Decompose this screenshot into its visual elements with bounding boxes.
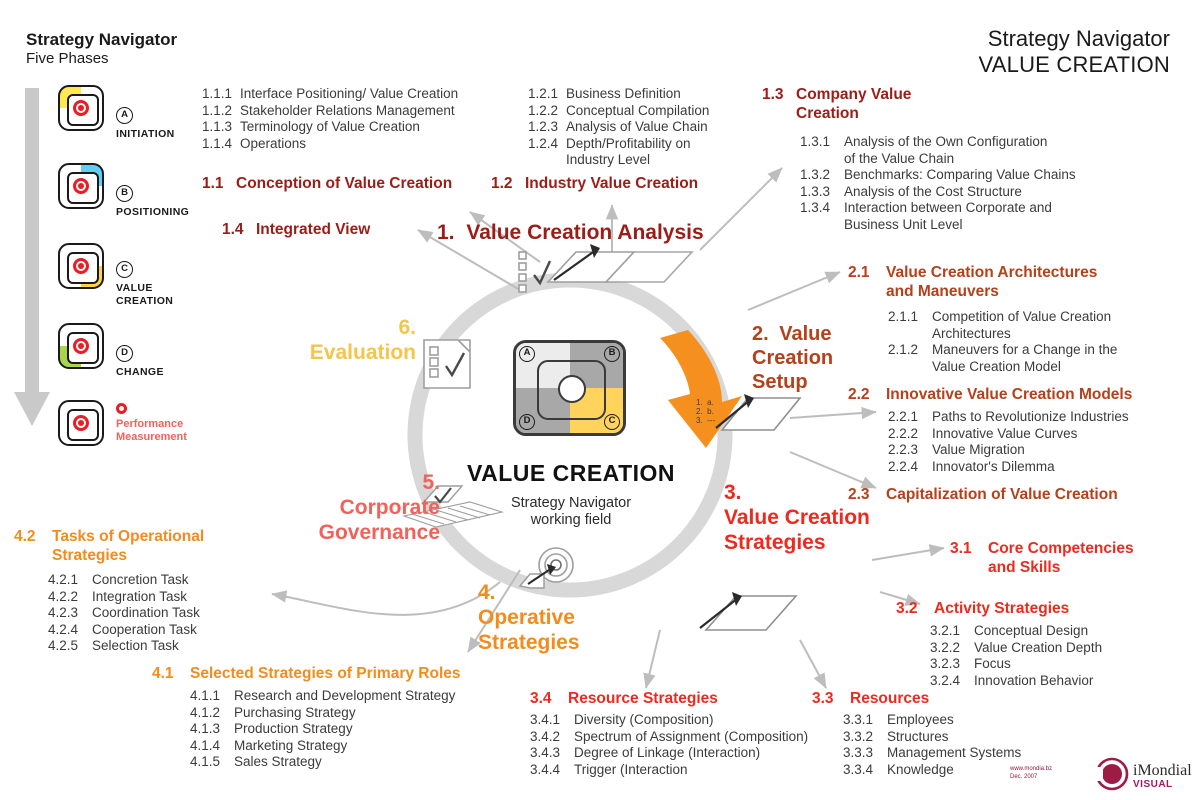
phase-icon-d <box>58 323 104 369</box>
item-number: 4.1.2 <box>190 705 234 722</box>
center-subtitle-line1: Strategy Navigator <box>440 495 702 512</box>
working-field-graphic[interactable]: A B C D <box>513 340 626 436</box>
phase-letter-a: A <box>116 107 133 124</box>
working-field-center-dot <box>558 375 586 403</box>
item-text: Value Creation Depth <box>974 640 1102 657</box>
phase-letter-d: D <box>116 345 133 362</box>
item-number: 1.3.4 <box>800 200 844 217</box>
list-item: 1.2.3Analysis of Value Chain <box>528 119 709 136</box>
item-number: 4.1.1 <box>190 688 234 705</box>
list-item: 3.3.4Knowledge <box>843 762 1021 779</box>
list-item: 4.1.4Marketing Strategy <box>190 738 455 755</box>
cycle-step-4[interactable]: 4. Operative Strategies <box>478 580 580 655</box>
left-header-title: Strategy Navigator <box>26 30 177 50</box>
item-text: Selection Task <box>92 638 179 655</box>
list-item: 4.1.3Production Strategy <box>190 721 455 738</box>
heading-title: Integrated View <box>256 221 370 238</box>
heading-title-line1: Tasks of Operational <box>52 528 204 547</box>
imondial-logo-mark <box>1095 759 1127 789</box>
item-text: Stakeholder Relations Management <box>240 103 455 120</box>
phase-item-performance-measurement[interactable]: Performance Measurement <box>58 400 104 446</box>
item-number: 4.2.3 <box>48 605 92 622</box>
sheet-icon-strategies <box>700 592 796 630</box>
list-item: 3.4.3Degree of Linkage (Interaction) <box>530 745 808 762</box>
item-text: Competition of Value Creation <box>932 309 1111 326</box>
block-heading-2-3[interactable]: 2.3Capitalization of Value Creation <box>848 486 1118 505</box>
phase-name-b: POSITIONING <box>116 206 189 219</box>
item-number: 3.3.1 <box>843 712 887 729</box>
item-text: Diversity (Composition) <box>574 712 714 729</box>
item-text: Cooperation Task <box>92 622 197 639</box>
block-heading-4-2[interactable]: 4.2 Tasks of Operational Strategies <box>14 528 204 565</box>
list-item: 1.2.2Conceptual Compilation <box>528 103 709 120</box>
heading-title: Conception of Value Creation <box>236 175 452 192</box>
phase-letter-b: B <box>116 185 133 202</box>
heading-number: 3.3 <box>812 690 850 709</box>
item-text-cont: Business Unit Level <box>844 217 963 234</box>
heading-title-line2: and Maneuvers <box>886 283 1097 302</box>
checklist-icon-evaluation <box>424 340 470 388</box>
list-item: 2.2.3Value Migration <box>888 442 1129 459</box>
heading-number: 2.1 <box>848 264 886 283</box>
item-number: 4.2.5 <box>48 638 92 655</box>
step-number: 6. <box>300 315 416 340</box>
item-text: Operations <box>240 136 306 153</box>
list-item: 4.2.2Integration Task <box>48 589 200 606</box>
quadrant-letter-b: B <box>604 346 620 362</box>
item-text: Depth/Profitability on <box>566 136 691 153</box>
item-number: 3.2.1 <box>930 623 974 640</box>
item-number: 2.2.1 <box>888 409 932 426</box>
phase-item-value-creation[interactable]: C VALUE CREATION <box>58 243 104 289</box>
item-text: Paths to Revolutionize Industries <box>932 409 1129 426</box>
quadrant-letter-c: C <box>604 414 620 430</box>
diagram-canvas: Strategy Navigator Five Phases Strategy … <box>0 0 1200 800</box>
phase-item-change[interactable]: D CHANGE <box>58 323 104 369</box>
heading-title-line1: Value Creation Architectures <box>886 264 1097 283</box>
phase-name-d: CHANGE <box>116 366 164 379</box>
heading-title-line2: Strategies <box>52 547 204 566</box>
item-number: 1.3.3 <box>800 184 844 201</box>
item-text: Research and Development Strategy <box>234 688 455 705</box>
heading-title: Selected Strategies of Primary Roles <box>190 665 461 682</box>
step-label-line2: Strategies <box>724 530 870 555</box>
item-number: 4.2.1 <box>48 572 92 589</box>
list-item: 1.1.1Interface Positioning/ Value Creati… <box>202 86 458 103</box>
item-text: Focus <box>974 656 1011 673</box>
item-text: Innovator's Dilemma <box>932 459 1055 476</box>
item-number: 1.2.3 <box>528 119 566 136</box>
item-number: 2.1.1 <box>888 309 932 326</box>
heading-title-line2: and Skills <box>988 559 1134 578</box>
list-item: 1.3.3Analysis of the Cost Structure <box>800 184 1076 201</box>
list-item: 1.1.3Terminology of Value Creation <box>202 119 458 136</box>
item-number: 3.4.2 <box>530 729 574 746</box>
step-label-line1: Value Creation <box>724 505 870 530</box>
brand-subtitle: VISUAL <box>1133 779 1192 790</box>
block-4-1-items: 4.1.1Research and Development Strategy 4… <box>190 688 455 771</box>
list-item-cont: Business Unit Level <box>800 217 1076 234</box>
item-text: Analysis of the Cost Structure <box>844 184 1022 201</box>
item-number: 1.1.4 <box>202 136 240 153</box>
item-text: Integration Task <box>92 589 187 606</box>
item-text: Interaction between Corporate and <box>844 200 1052 217</box>
block-2-2-items: 2.2.1Paths to Revolutionize Industries 2… <box>888 409 1129 475</box>
block-1-3-items: 1.3.1Analysis of the Own Configuration o… <box>800 134 1076 233</box>
block-3-4-items: 3.4.1Diversity (Composition) 3.4.2Spectr… <box>530 712 808 778</box>
center-subtitle-line2: working field <box>440 512 702 529</box>
right-header-title-line1: Strategy Navigator <box>979 26 1170 52</box>
list-item: 1.3.2Benchmarks: Comparing Value Chains <box>800 167 1076 184</box>
block-2-1-items: 2.1.1Competition of Value Creation Archi… <box>888 309 1117 375</box>
cycle-step-2[interactable]: 2. Value Creation Setup <box>752 322 833 394</box>
list-item-cont: Industry Level <box>528 152 709 169</box>
phase-badge-performance: Performance Measurement <box>116 403 187 443</box>
step-number: 5. <box>292 470 440 495</box>
right-header-title-line2: VALUE CREATION <box>979 52 1170 78</box>
phase-name-c: VALUE CREATION <box>116 282 173 307</box>
block-3-3-items: 3.3.1Employees 3.3.2Structures 3.3.3Mana… <box>843 712 1021 778</box>
item-text: Conceptual Design <box>974 623 1088 640</box>
item-number: 3.4.1 <box>530 712 574 729</box>
list-item-cont: Value Creation Model <box>888 359 1117 376</box>
list-item: 2.1.2Maneuvers for a Change in the <box>888 342 1117 359</box>
item-text-cont: of the Value Chain <box>844 151 954 168</box>
step-label-line1: Corporate <box>292 495 440 520</box>
list-item: 4.2.4Cooperation Task <box>48 622 200 639</box>
block-heading-4-1[interactable]: 4.1Selected Strategies of Primary Roles <box>152 665 461 684</box>
item-text: Structures <box>887 729 949 746</box>
list-item: 4.1.2Purchasing Strategy <box>190 705 455 722</box>
item-text: Trigger (Interaction <box>574 762 688 779</box>
item-number: 1.1.3 <box>202 119 240 136</box>
heading-title: Resources <box>850 690 929 707</box>
item-text: Conceptual Compilation <box>566 103 709 120</box>
phase-icon-performance <box>58 400 104 446</box>
footer-brand[interactable]: iMondial VISUAL <box>1133 762 1192 790</box>
list-item: 3.3.3Management Systems <box>843 745 1021 762</box>
heading-number: 4.1 <box>152 665 190 684</box>
heading-title: Industry Value Creation <box>525 175 698 192</box>
heading-number: 3.2 <box>896 600 934 619</box>
cycle-step-6[interactable]: 6. Evaluation <box>300 315 416 365</box>
phase-flow-arrow <box>14 88 50 426</box>
quadrant-letter-a: A <box>519 346 535 362</box>
heading-number: 1.1 <box>202 175 236 194</box>
item-text: Value Migration <box>932 442 1025 459</box>
list-item: 3.3.1Employees <box>843 712 1021 729</box>
list-item: 3.2.2Value Creation Depth <box>930 640 1102 657</box>
left-header: Strategy Navigator Five Phases <box>26 30 177 68</box>
item-text: Analysis of Value Chain <box>566 119 708 136</box>
heading-number: 1.4 <box>222 221 256 240</box>
phase-letter-c: C <box>116 261 133 278</box>
phase-badge-d: D CHANGE <box>116 345 164 379</box>
block-heading-3-1[interactable]: 3.1 Core Competencies and Skills <box>950 540 1134 577</box>
list-item: 2.2.1Paths to Revolutionize Industries <box>888 409 1129 426</box>
list-item: 3.4.4Trigger (Interaction <box>530 762 808 779</box>
step-label-line1: Operative <box>478 605 580 630</box>
footer-credits: www.mondia.bz Dec. 2007 <box>1010 766 1052 781</box>
cycle-step-5[interactable]: 5. Corporate Governance <box>292 470 440 545</box>
item-text: Spectrum of Assignment (Composition) <box>574 729 808 746</box>
brand-name: iMondial <box>1133 762 1192 779</box>
heading-title: Activity Strategies <box>934 600 1069 617</box>
item-text: Concretion Task <box>92 572 189 589</box>
block-4-2-items: 4.2.1Concretion Task 4.2.2Integration Ta… <box>48 572 200 655</box>
heading-title-line2: Creation <box>796 105 911 124</box>
block-heading-2-1[interactable]: 2.1 Value Creation Architectures and Man… <box>848 264 1097 301</box>
item-text-cont: Value Creation Model <box>932 359 1061 376</box>
heading-title: Innovative Value Creation Models <box>886 386 1132 403</box>
list-item: 2.2.4Innovator's Dilemma <box>888 459 1129 476</box>
list-item: 4.1.5Sales Strategy <box>190 754 455 771</box>
step-number: 4. <box>478 580 580 605</box>
item-number: 3.3.4 <box>843 762 887 779</box>
list-item: 4.2.1Concretion Task <box>48 572 200 589</box>
list-item: 2.1.1Competition of Value Creation <box>888 309 1117 326</box>
block-heading-3-2[interactable]: 3.2Activity Strategies <box>896 600 1069 619</box>
item-number: 2.2.4 <box>888 459 932 476</box>
item-number: 4.1.5 <box>190 754 234 771</box>
item-text: Employees <box>887 712 954 729</box>
phase-icon-c <box>58 243 104 289</box>
item-text: Production Strategy <box>234 721 353 738</box>
block-1-1-items: 1.1.1Interface Positioning/ Value Creati… <box>202 86 458 152</box>
growth-sheet-icon-analysis <box>548 244 692 282</box>
list-item: 4.1.1Research and Development Strategy <box>190 688 455 705</box>
item-number: 1.1.2 <box>202 103 240 120</box>
item-number: 1.2.1 <box>528 86 566 103</box>
block-heading-1-3[interactable]: 1.3 Company Value Creation <box>762 86 911 123</box>
heading-number: 2.2 <box>848 386 886 405</box>
heading-number: 1.3 <box>762 86 796 105</box>
list-item: 3.3.2Structures <box>843 729 1021 746</box>
step-label: Evaluation <box>300 340 416 365</box>
list-item: 1.1.2Stakeholder Relations Management <box>202 103 458 120</box>
item-number: 2.1.2 <box>888 342 932 359</box>
item-text: Knowledge <box>887 762 954 779</box>
list-item: 2.2.2Innovative Value Curves <box>888 426 1129 443</box>
phase-icon-b <box>58 163 104 209</box>
list-item: 1.2.4Depth/Profitability on <box>528 136 709 153</box>
item-number: 3.4.4 <box>530 762 574 779</box>
item-text: Degree of Linkage (Interaction) <box>574 745 760 762</box>
heading-number: 3.1 <box>950 540 988 559</box>
item-text-cont: Industry Level <box>566 152 650 169</box>
item-text: Interface Positioning/ Value Creation <box>240 86 458 103</box>
phase-icon-a <box>58 85 104 131</box>
heading-number: 2.3 <box>848 486 886 505</box>
phase-badge-a: A INITIATION <box>116 107 175 141</box>
heading-title: Capitalization of Value Creation <box>886 486 1118 503</box>
list-item: 3.4.1Diversity (Composition) <box>530 712 808 729</box>
phase-item-positioning[interactable]: B POSITIONING <box>58 163 104 209</box>
block-heading-1-4[interactable]: 1.4Integrated View <box>222 221 370 240</box>
heading-title: Resource Strategies <box>568 690 718 707</box>
heading-number: 4.2 <box>14 528 52 547</box>
phase-name-performance: Performance Measurement <box>116 418 187 443</box>
item-number: 3.3.2 <box>843 729 887 746</box>
quadrant-letter-d: D <box>519 414 535 430</box>
performance-dot-icon <box>116 403 127 414</box>
item-number: 1.3.2 <box>800 167 844 184</box>
item-text: Benchmarks: Comparing Value Chains <box>844 167 1076 184</box>
block-1-2-items: 1.2.1Business Definition 1.2.2Conceptual… <box>528 86 709 169</box>
phase-item-initiation[interactable]: A INITIATION <box>58 85 104 131</box>
list-item: 1.3.1Analysis of the Own Configuration <box>800 134 1076 151</box>
item-text: Innovation Behavior <box>974 673 1093 690</box>
list-item: 3.2.1Conceptual Design <box>930 623 1102 640</box>
item-number: 1.1.1 <box>202 86 240 103</box>
item-number: 4.1.3 <box>190 721 234 738</box>
item-number: 3.3.3 <box>843 745 887 762</box>
item-text: Terminology of Value Creation <box>240 119 420 136</box>
step-label-line3: Setup <box>752 370 833 394</box>
item-number: 3.2.4 <box>930 673 974 690</box>
item-text: Sales Strategy <box>234 754 322 771</box>
step-number: 2. <box>752 323 769 345</box>
item-text: Business Definition <box>566 86 681 103</box>
footer-date: Dec. 2007 <box>1010 774 1052 782</box>
block-heading-1-2[interactable]: 1.2Industry Value Creation <box>491 175 698 194</box>
heading-number: 1.2 <box>491 175 525 194</box>
item-number: 2.2.2 <box>888 426 932 443</box>
list-item: 3.2.4Innovation Behavior <box>930 673 1102 690</box>
mini-ordered-list-icon: 1. a.2. b.3. --- <box>696 398 715 425</box>
item-number: 4.2.2 <box>48 589 92 606</box>
item-number: 1.2.2 <box>528 103 566 120</box>
phase-badge-b: B POSITIONING <box>116 185 189 219</box>
left-header-subtitle: Five Phases <box>26 50 177 68</box>
heading-title-line1: Core Competencies <box>988 540 1134 559</box>
step-label: Value Creation Analysis <box>466 221 703 244</box>
item-number: 4.1.4 <box>190 738 234 755</box>
phase-name-a: INITIATION <box>116 128 175 141</box>
heading-number: 3.4 <box>530 690 568 709</box>
item-number: 3.2.3 <box>930 656 974 673</box>
block-heading-2-2[interactable]: 2.2Innovative Value Creation Models <box>848 386 1132 405</box>
block-heading-1-1[interactable]: 1.1Conception of Value Creation <box>202 175 452 194</box>
step-label-line1: Value <box>779 323 831 345</box>
item-number: 4.2.4 <box>48 622 92 639</box>
footer-url: www.mondia.bz <box>1010 766 1052 774</box>
item-text: Management Systems <box>887 745 1021 762</box>
item-text: Innovative Value Curves <box>932 426 1077 443</box>
cycle-step-1[interactable]: 1. Value Creation Analysis <box>437 220 704 245</box>
item-number: 1.3.1 <box>800 134 844 151</box>
item-text: Analysis of the Own Configuration <box>844 134 1047 151</box>
block-heading-3-4[interactable]: 3.4Resource Strategies <box>530 690 718 709</box>
list-item: 4.2.5Selection Task <box>48 638 200 655</box>
heading-title-line1: Company Value <box>796 86 911 105</box>
item-number: 3.4.3 <box>530 745 574 762</box>
list-item: 3.4.2Spectrum of Assignment (Composition… <box>530 729 808 746</box>
phase-badge-c: C VALUE CREATION <box>116 261 173 307</box>
list-item-cont: Architectures <box>888 326 1117 343</box>
step-label-line2: Governance <box>292 520 440 545</box>
list-item: 1.1.4Operations <box>202 136 458 153</box>
block-heading-3-3[interactable]: 3.3Resources <box>812 690 929 709</box>
item-text-cont: Architectures <box>932 326 1011 343</box>
block-3-2-items: 3.2.1Conceptual Design 3.2.2Value Creati… <box>930 623 1102 689</box>
list-item: 4.2.3Coordination Task <box>48 605 200 622</box>
right-header: Strategy Navigator VALUE CREATION <box>979 26 1170 78</box>
list-item: 3.2.3Focus <box>930 656 1102 673</box>
list-item-cont: of the Value Chain <box>800 151 1076 168</box>
item-text: Coordination Task <box>92 605 200 622</box>
step-number: 1. <box>437 221 455 244</box>
list-item: 1.3.4Interaction between Corporate and <box>800 200 1076 217</box>
item-text: Marketing Strategy <box>234 738 347 755</box>
step-label-line2: Strategies <box>478 630 580 655</box>
center-caption: VALUE CREATION Strategy Navigator workin… <box>440 460 702 529</box>
item-number: 3.2.2 <box>930 640 974 657</box>
step-label-line2: Creation <box>752 346 833 370</box>
list-item: 1.2.1Business Definition <box>528 86 709 103</box>
item-number: 2.2.3 <box>888 442 932 459</box>
item-number: 1.2.4 <box>528 136 566 153</box>
center-title: VALUE CREATION <box>440 460 702 487</box>
item-text: Maneuvers for a Change in the <box>932 342 1117 359</box>
item-text: Purchasing Strategy <box>234 705 356 722</box>
